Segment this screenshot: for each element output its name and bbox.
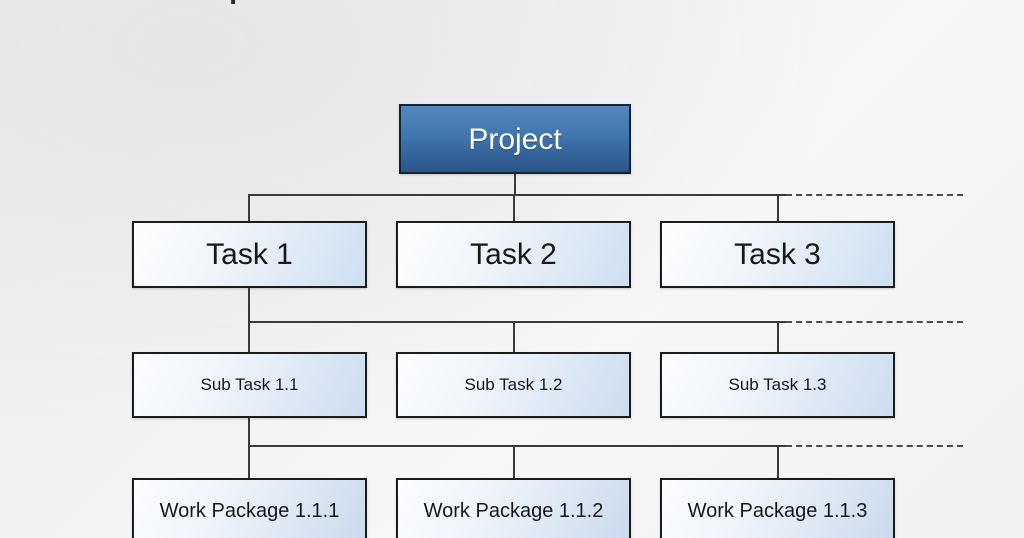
connector-drop-subtask-3 [777,321,779,353]
connector-bus-workpackages [249,445,786,447]
connector-bus-tasks [249,194,786,196]
connector-bus-workpackages-continuation [786,445,963,447]
page-title: Simple Work Breakdown Structure [0,0,1024,6]
node-workpackage-1-1-3-label: Work Package 1.1.3 [688,500,868,522]
connector-drop-workpackage-2 [513,445,515,479]
node-task-1-label: Task 1 [206,238,293,271]
node-subtask-1-1-label: Sub Task 1.1 [201,376,299,395]
connector-drop-task-1 [248,194,250,222]
node-subtask-1-1[interactable]: Sub Task 1.1 [132,352,367,418]
node-subtask-1-3[interactable]: Sub Task 1.3 [660,352,895,418]
node-workpackage-1-1-2-label: Work Package 1.1.2 [424,500,604,522]
connector-bus-subtasks-continuation [786,321,963,323]
connector-task1-stem [248,288,250,322]
node-task-3-label: Task 3 [734,238,821,271]
connector-drop-task-3 [777,194,779,222]
node-task-3[interactable]: Task 3 [660,221,895,288]
node-subtask-1-3-label: Sub Task 1.3 [729,376,827,395]
connector-root-stem [514,174,516,196]
node-subtask-1-2[interactable]: Sub Task 1.2 [396,352,631,418]
connector-drop-task-2 [513,194,515,222]
connector-bus-tasks-continuation [786,194,963,196]
node-workpackage-1-1-1[interactable]: Work Package 1.1.1 [132,478,367,538]
node-project-label: Project [468,123,561,156]
connector-drop-workpackage-3 [777,445,779,479]
connector-subtask11-stem [248,418,250,446]
node-project[interactable]: Project [399,104,631,174]
connector-drop-subtask-1 [248,321,250,353]
connector-drop-subtask-2 [513,321,515,353]
node-workpackage-1-1-2[interactable]: Work Package 1.1.2 [396,478,631,538]
node-workpackage-1-1-1-label: Work Package 1.1.1 [160,500,340,522]
connector-drop-workpackage-1 [248,445,250,479]
wbs-diagram: Simple Work Breakdown Structure Project … [0,0,1024,538]
node-subtask-1-2-label: Sub Task 1.2 [465,376,563,395]
node-task-1[interactable]: Task 1 [132,221,367,288]
node-task-2[interactable]: Task 2 [396,221,631,288]
node-task-2-label: Task 2 [470,238,557,271]
connector-bus-subtasks [249,321,786,323]
node-workpackage-1-1-3[interactable]: Work Package 1.1.3 [660,478,895,538]
